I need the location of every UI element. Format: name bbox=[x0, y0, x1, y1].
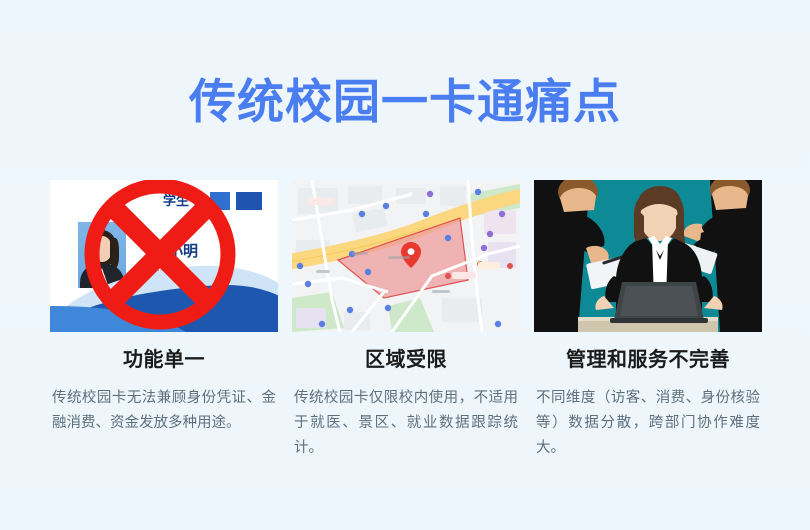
photo-face bbox=[92, 236, 112, 262]
id-card-label: 学生卡 bbox=[163, 190, 202, 209]
card-image-office bbox=[534, 180, 762, 332]
card-heading: 功能单一 bbox=[50, 348, 278, 372]
id-card-accent-square-small bbox=[210, 192, 230, 210]
card-description: 传统校园卡仅限校内使用，不适用于就医、景区、就业数据跟踪统计。 bbox=[292, 386, 520, 461]
pain-point-card-list: 学生卡 小明 23级信息工程系 软件技术2班 bbox=[50, 180, 762, 461]
office-illustration bbox=[534, 180, 762, 332]
photo-hair-left bbox=[85, 238, 94, 268]
pain-point-card: 区域受限 传统校园卡仅限校内使用，不适用于就医、景区、就业数据跟踪统计。 bbox=[292, 180, 520, 461]
card-image-map bbox=[292, 180, 520, 332]
pain-point-card: 管理和服务不完善 不同维度（访客、消费、身份核验等）数据分散，跨部门协作难度大。 bbox=[534, 180, 762, 461]
card-description: 传统校园卡无法兼顾身份凭证、金融消费、资金发放多种用途。 bbox=[50, 386, 278, 436]
office-graphic bbox=[534, 180, 762, 332]
card-description: 不同维度（访客、消费、身份核验等）数据分散，跨部门协作难度大。 bbox=[534, 386, 762, 461]
map-graphic bbox=[292, 180, 520, 332]
student-photo bbox=[78, 222, 126, 288]
student-id-card: 学生卡 小明 23级信息工程系 软件技术2班 bbox=[50, 180, 278, 332]
student-name: 小明 bbox=[168, 240, 198, 261]
card-heading: 管理和服务不完善 bbox=[534, 348, 762, 372]
photo-hair-right bbox=[110, 238, 119, 268]
map-screenshot bbox=[292, 180, 520, 332]
id-card-accent-square bbox=[236, 192, 262, 210]
card-heading: 区域受限 bbox=[292, 348, 520, 372]
slide-root: 传统校园一卡通痛点 学生卡 bbox=[0, 0, 810, 530]
page-title: 传统校园一卡通痛点 bbox=[0, 78, 810, 125]
pain-point-card: 学生卡 小明 23级信息工程系 软件技术2班 bbox=[50, 180, 278, 461]
card-image-student-card: 学生卡 小明 23级信息工程系 软件技术2班 bbox=[50, 180, 278, 332]
